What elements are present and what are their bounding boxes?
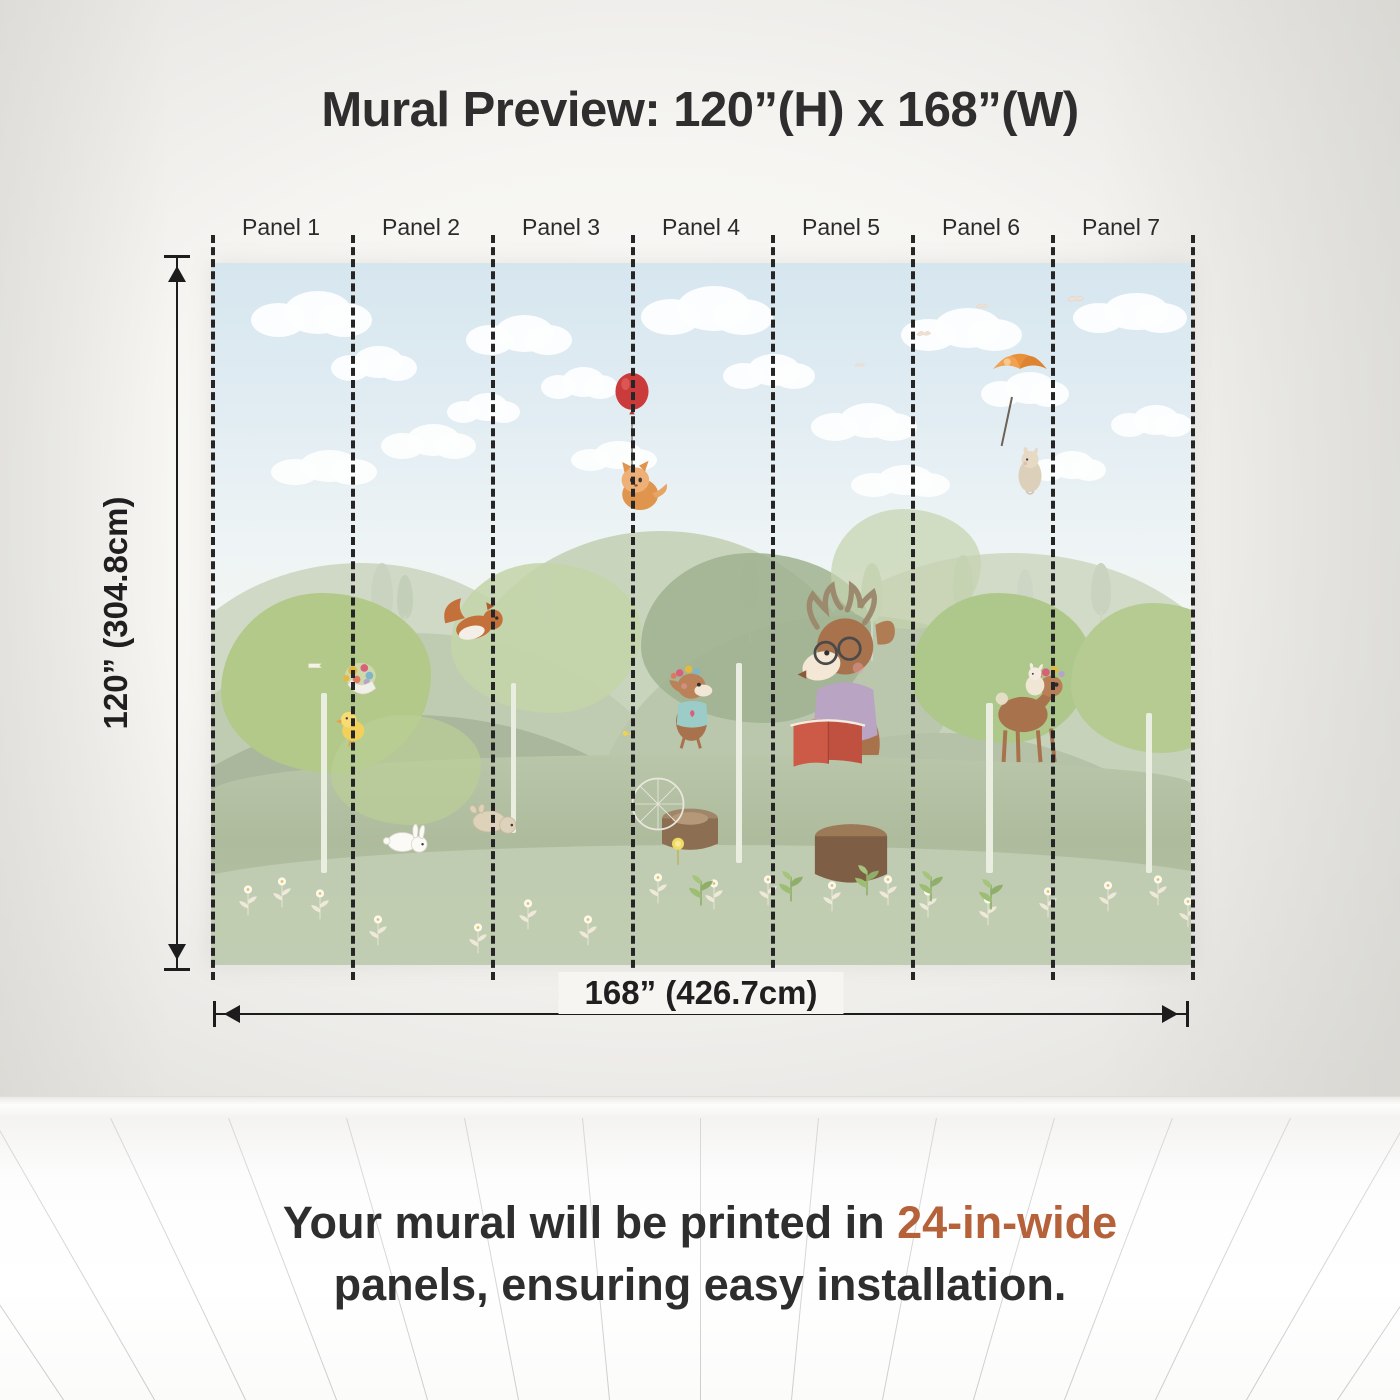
footer-text-before: Your mural will be printed in xyxy=(283,1197,897,1248)
ground-sprig xyxy=(1031,875,1065,927)
footer-line-1: Your mural will be printed in 24-in-wide xyxy=(0,1192,1400,1254)
panel-label-5: Panel 5 xyxy=(802,214,880,241)
ground-sprig xyxy=(265,865,299,917)
ground-sprig xyxy=(1141,863,1175,915)
cloud xyxy=(1072,459,1106,481)
fox-with-balloon xyxy=(609,455,669,517)
bunny-on-deer-back xyxy=(1017,663,1053,699)
height-cap-bottom xyxy=(164,968,190,971)
height-cap-top xyxy=(164,255,190,258)
leaping-squirrel xyxy=(429,593,517,659)
flying-bird xyxy=(851,359,869,372)
tree-trunk xyxy=(321,693,327,873)
panel-label-1: Panel 1 xyxy=(242,214,320,241)
ground-sprig xyxy=(461,911,495,963)
leaf-cluster xyxy=(911,859,951,907)
fawn-with-crown xyxy=(656,638,730,758)
panel-label-7: Panel 7 xyxy=(1082,214,1160,241)
height-arrowhead-bottom xyxy=(168,944,186,960)
tree-trunk xyxy=(1146,713,1152,873)
panel-divider-line-2 xyxy=(351,235,355,980)
panel-divider-line-5 xyxy=(771,235,775,980)
ground-sprig xyxy=(511,887,545,939)
mural-preview-container xyxy=(211,263,1191,965)
leaf-cluster xyxy=(971,867,1011,915)
height-dimension-label: 120” (304.8cm) xyxy=(97,497,135,730)
cloud xyxy=(869,413,917,441)
red-book xyxy=(771,715,883,791)
cloud xyxy=(524,325,572,355)
distant-tree xyxy=(397,575,413,619)
cloud xyxy=(433,433,476,459)
white-rabbit xyxy=(369,823,447,879)
butterfly xyxy=(619,725,639,743)
wall-shadow-left xyxy=(0,0,170,1108)
ground-sprig xyxy=(815,869,849,921)
flying-bird xyxy=(1061,289,1091,310)
width-arrowhead-left xyxy=(224,1005,240,1023)
cloud xyxy=(713,299,773,335)
duckling xyxy=(333,703,379,753)
panel-label-4: Panel 4 xyxy=(662,214,740,241)
width-cap-left xyxy=(213,1001,216,1027)
panel-divider-line-7 xyxy=(1051,235,1055,980)
ground-sprig xyxy=(1171,885,1191,937)
dandelion xyxy=(663,829,693,873)
bunny-with-umbrella xyxy=(1006,431,1054,513)
height-dimension-arrow: 120” (304.8cm) xyxy=(176,258,178,968)
flying-bird xyxy=(971,299,993,314)
page-title: Mural Preview: 120”(H) x 168”(W) xyxy=(0,82,1400,138)
cloud xyxy=(378,355,417,381)
baseboard xyxy=(0,1096,1400,1120)
panel-label-2: Panel 2 xyxy=(382,214,460,241)
width-arrowhead-right xyxy=(1162,1005,1178,1023)
ground-sprig xyxy=(231,873,265,925)
panel-divider-line-1 xyxy=(211,235,215,980)
panel-divider-line-6 xyxy=(911,235,915,980)
ground-sprig xyxy=(571,903,605,955)
panel-label-3: Panel 3 xyxy=(522,214,600,241)
tree-trunk xyxy=(736,663,742,863)
ground-sprig xyxy=(361,903,395,955)
cloud xyxy=(1155,413,1191,437)
cloud xyxy=(317,303,372,337)
width-dimension-label: 168” (426.7cm) xyxy=(559,972,844,1014)
mural-artwork xyxy=(211,263,1191,965)
width-cap-right xyxy=(1186,1001,1189,1027)
height-arrowhead-top xyxy=(168,266,186,282)
panel-divider-line-3 xyxy=(491,235,495,980)
leaf-cluster xyxy=(771,859,811,907)
footer-note: Your mural will be printed in 24-in-wide… xyxy=(0,1192,1400,1316)
ground-sprig xyxy=(1091,869,1125,921)
footer-line-2: panels, ensuring easy installation. xyxy=(0,1254,1400,1316)
panel-label-6: Panel 6 xyxy=(942,214,1020,241)
panel-divider-line-4 xyxy=(631,235,635,980)
bicycle-wheel xyxy=(629,775,687,833)
leaf-cluster xyxy=(847,853,887,901)
tan-rabbit xyxy=(453,803,537,861)
width-dimension-arrow: 168” (426.7cm) xyxy=(216,1013,1186,1015)
panel-divider-line-8 xyxy=(1191,235,1195,980)
footer-accent-text: 24-in-wide xyxy=(897,1197,1117,1248)
ground-sprig xyxy=(303,877,337,929)
